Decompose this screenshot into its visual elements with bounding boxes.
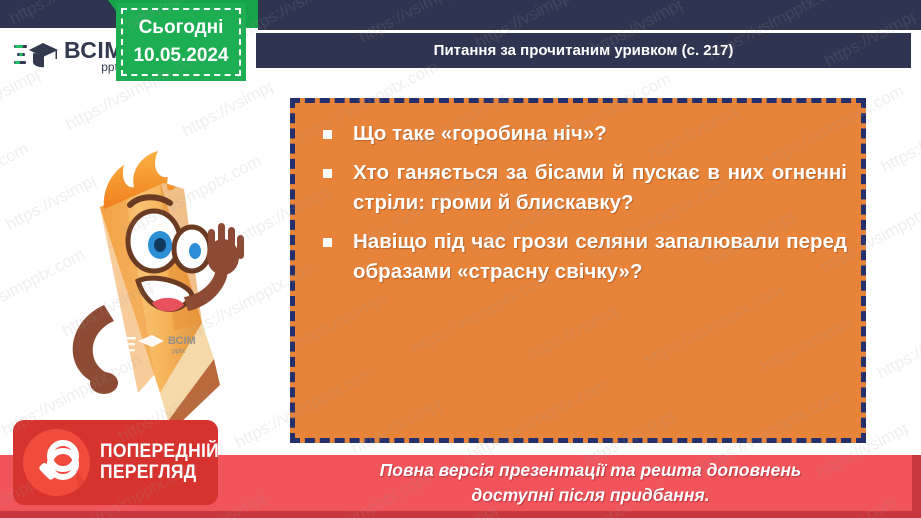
question-text: Хто ганяється за бісами й пускає в них о…: [353, 161, 847, 214]
date-badge-label: Сьогодні: [139, 14, 224, 42]
banner-bottom-strip: [0, 511, 921, 518]
list-item: Хто ганяється за бісами й пускає в них о…: [309, 158, 847, 218]
date-badge-value: 10.05.2024: [133, 42, 228, 70]
page-title: Питання за прочитаним уривком (с. 217): [434, 42, 734, 59]
bullet-square-icon: [323, 169, 332, 178]
pencil-mascot: ВСІМ pptx: [42, 145, 252, 430]
mascot-hand: [207, 223, 244, 275]
brand-logo-text: ВСІМ pptx: [64, 39, 124, 73]
banner-message: Повна версія презентації та решта доповн…: [268, 455, 913, 511]
slide-root: ВСІМ pptx Сьогодні 10.05.2024 Питання за…: [0, 0, 921, 518]
svg-text:pptx: pptx: [172, 348, 186, 355]
date-badge: Сьогодні 10.05.2024: [116, 3, 246, 81]
slide-title-bar: Питання за прочитаним уривком (с. 217): [256, 33, 911, 68]
questions-panel: Що таке «горобина ніч»? Хто ганяється за…: [290, 98, 866, 443]
question-text: Що таке «горобина ніч»?: [353, 122, 607, 145]
banner-line-1: Повна версія презентації та решта доповн…: [380, 458, 802, 483]
brand-name: ВСІМ: [64, 39, 124, 62]
bullet-square-icon: [323, 130, 332, 139]
list-item: Навіщо під час грози селяни запалювали п…: [309, 227, 847, 287]
questions-list: Що таке «горобина ніч»? Хто ганяється за…: [309, 119, 847, 287]
bullet-square-icon: [323, 238, 332, 247]
svg-text:ВСІМ: ВСІМ: [168, 335, 196, 347]
list-item: Що таке «горобина ніч»?: [309, 119, 847, 149]
preview-badge-label: ПОПЕРЕДНІЙ ПЕРЕГЛЯД: [100, 442, 219, 482]
graduation-cap-icon: [14, 39, 60, 73]
question-text: Навіщо під час грози селяни запалювали п…: [353, 230, 847, 283]
preview-label-line-2: ПЕРЕГЛЯД: [100, 462, 197, 483]
magnifier-icon: [23, 429, 90, 496]
preview-label-line-1: ПОПЕРЕДНІЙ: [100, 441, 219, 462]
banner-line-2: доступні після придбання.: [471, 483, 709, 508]
preview-badge[interactable]: ПОПЕРЕДНІЙ ПЕРЕГЛЯД: [13, 420, 218, 505]
